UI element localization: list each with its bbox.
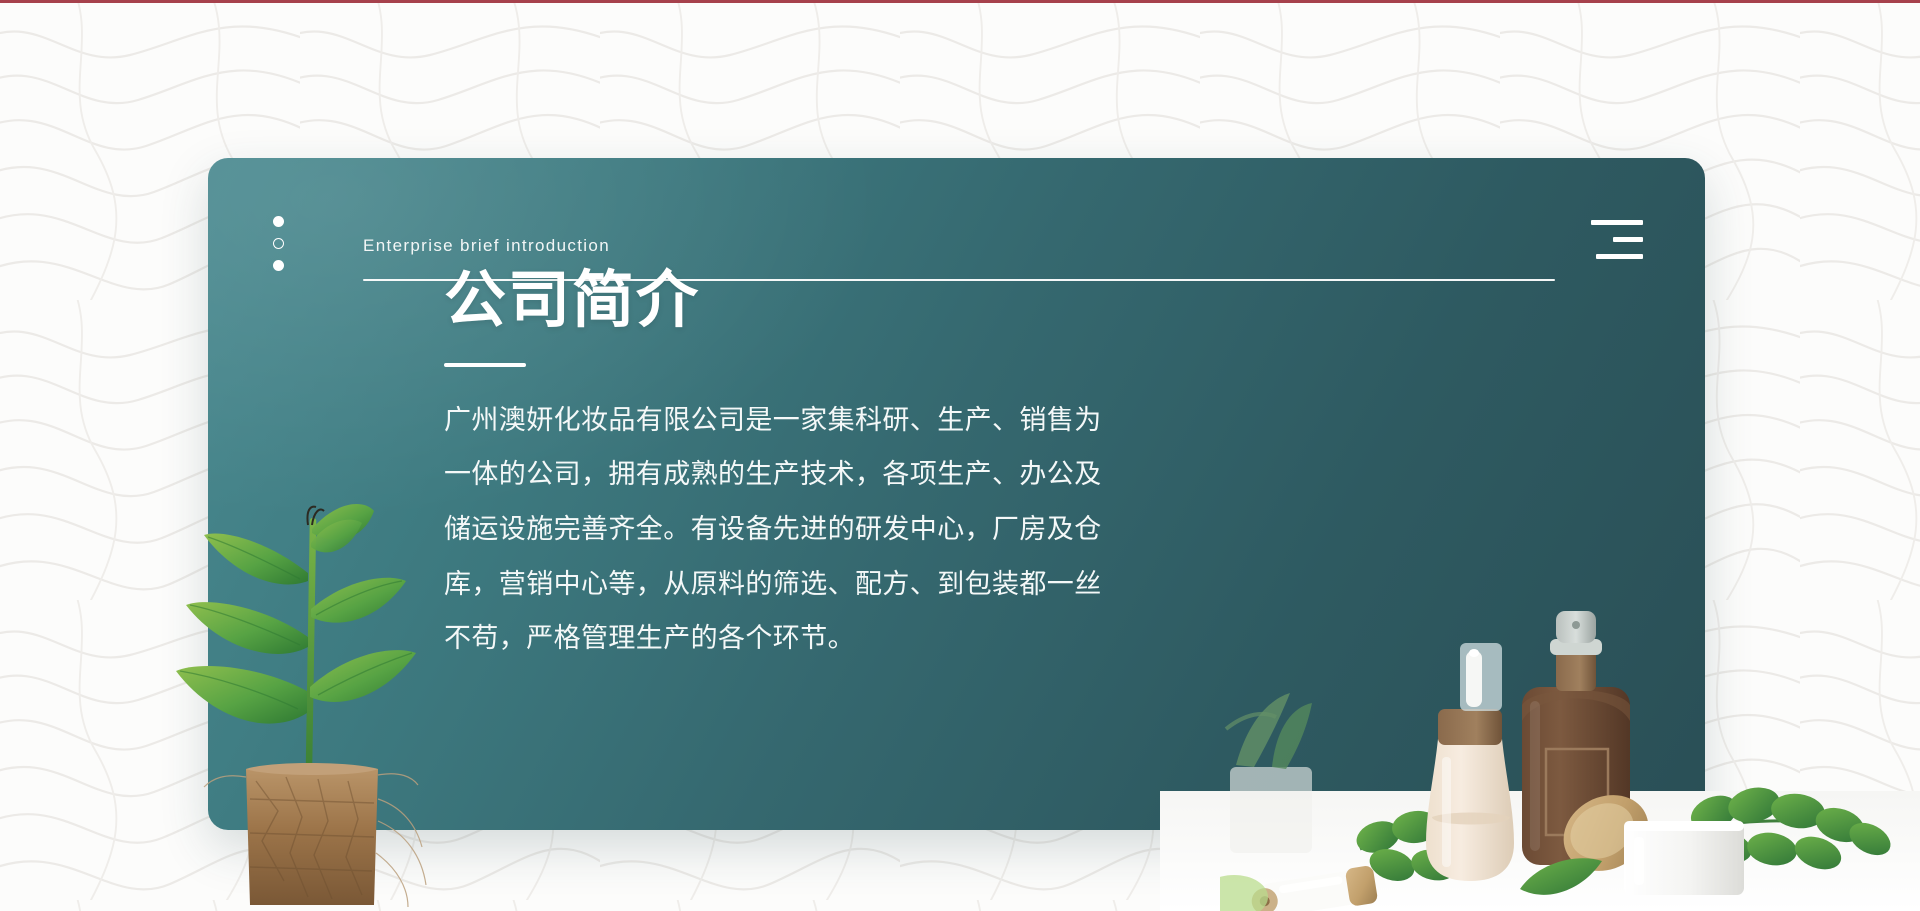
page-root: Enterprise brief introduction 公司简介 广州澳妍化…	[0, 0, 1920, 911]
eyebrow-label: Enterprise brief introduction	[363, 236, 610, 256]
content-card: Enterprise brief introduction 公司简介 广州澳妍化…	[208, 158, 1705, 830]
top-accent-rule	[0, 0, 1920, 3]
hamburger-line-bottom	[1596, 254, 1643, 259]
hamburger-line-middle	[1613, 237, 1643, 242]
dot-indicator-group[interactable]	[273, 216, 284, 271]
dot-two-icon[interactable]	[273, 238, 284, 249]
hamburger-menu-icon[interactable]	[1591, 220, 1643, 262]
page-title: 公司简介	[444, 268, 1144, 335]
table-surface	[1160, 791, 1920, 911]
dot-three-icon[interactable]	[273, 260, 284, 271]
company-description-text: 广州澳妍化妆品有限公司是一家集科研、生产、销售为一体的公司，拥有成熟的生产技术，…	[444, 393, 1114, 666]
card-body: 公司简介 广州澳妍化妆品有限公司是一家集科研、生产、销售为一体的公司，拥有成熟的…	[444, 268, 1144, 666]
title-underline-rule	[444, 363, 526, 367]
hamburger-line-top	[1591, 220, 1643, 225]
dot-one-icon[interactable]	[273, 216, 284, 227]
